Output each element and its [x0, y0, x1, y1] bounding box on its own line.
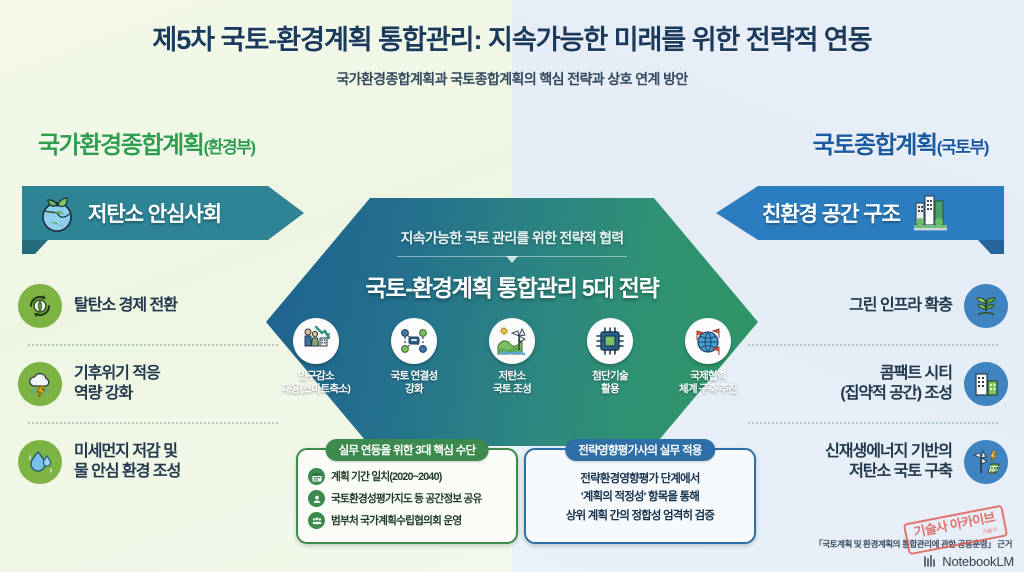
bottom-left-text-1: 계획 기간 일치(2020~2040) — [331, 469, 442, 484]
strategy-label-1-line1: 인구감소 — [298, 370, 334, 382]
globe-cooperation-icon — [685, 318, 731, 364]
earth-plant-icon — [36, 191, 80, 235]
right-list-label-3-line2: 저탄소 국토 구축 — [849, 463, 952, 480]
left-column-title: 국가환경종합계획(환경부) — [38, 125, 255, 160]
left-list-label-2-line1: 기후위기 적응 — [74, 365, 160, 382]
buildings-icon — [964, 362, 1008, 406]
chip-technology-icon — [587, 318, 633, 364]
page-subtitle: 국가환경종합계획과 국토종합계획의 핵심 전략과 상호 연계 방안 — [0, 69, 1024, 89]
strategy-item-3: 저탄소 국토 조성 — [470, 318, 554, 396]
population-decline-icon — [293, 318, 339, 364]
right-list-item-1: 그린 인프라 확충 — [738, 268, 1008, 344]
left-list-label-2: 기후위기 적응 역량 강화 — [74, 364, 160, 404]
notebooklm-label: NotebookLM — [942, 554, 1014, 569]
strategy-label-4-line2: 활용 — [601, 383, 619, 395]
bottom-left-text-3: 범부처 국가계획수립협의회 운영 — [331, 513, 461, 528]
strategy-label-2: 국토 연결성 강화 — [372, 370, 456, 396]
strategy-label-3: 저탄소 국토 조성 — [470, 370, 554, 396]
notebooklm-watermark: NotebookLM — [923, 554, 1014, 569]
right-list-item-2: 콤팩트 시티 (집약적 공간) 조성 — [738, 346, 1008, 422]
carbon-cycle-icon — [18, 284, 62, 328]
right-banner-label: 친환경 공간 구조 — [762, 198, 900, 228]
right-list-label-3: 신재생에너지 기반의 저탄소 국토 구축 — [825, 442, 952, 482]
strategy-label-2-line2: 강화 — [405, 383, 423, 395]
bottom-right-line-2: '계획의 적정성' 항목을 통해 — [534, 488, 746, 506]
water-drop-icon — [18, 440, 62, 484]
strategy-label-2-line1: 국토 연결성 — [390, 370, 437, 382]
strategy-item-4: 첨단기술 활용 — [568, 318, 652, 396]
right-list-label-2: 콤팩트 시티 (집약적 공간) 조성 — [840, 364, 952, 404]
bottom-left-box: 실무 연등을 위한 3대 핵심 수단 계획 기간 일치(2020~2040) 국… — [296, 448, 518, 544]
leaf-sprout-icon — [964, 284, 1008, 328]
strategy-label-4: 첨단기술 활용 — [568, 370, 652, 396]
left-list-item-2: 기후위기 적응 역량 강화 — [18, 346, 288, 422]
strategy-label-3-line2: 국토 조성 — [493, 383, 531, 395]
right-banner: 친환경 공간 구조 — [716, 186, 1004, 240]
calendar-icon — [308, 468, 325, 485]
left-list-label-3: 미세먼지 저감 및 물 안심 환경 조성 — [74, 442, 180, 482]
bottom-left-line-2: 국토환경성평가지도 등 공간정보 공유 — [308, 490, 508, 507]
strategy-label-5-line2: 체계 구축 추진 — [679, 383, 737, 395]
left-banner-label: 저탄소 안심사회 — [88, 198, 221, 228]
bottom-right-box-heading: 전략영향평가사의 실무 적용 — [565, 439, 715, 461]
bottom-right-box-body: 전략환경영향평가 단계에서 '계획의 적정성' 항목을 통해 상위 계획 간의 … — [526, 450, 754, 525]
bottom-right-line-1: 전략환경영향평가 단계에서 — [534, 470, 746, 488]
left-list-label-2-line2: 역량 강화 — [74, 385, 132, 402]
bottom-left-box-body: 계획 기간 일치(2020~2040) 국토환경성평가지도 등 공간정보 공유 … — [298, 450, 516, 529]
center-divider — [397, 256, 627, 257]
strategy-label-3-line1: 저탄소 — [499, 370, 526, 382]
storm-cloud-icon — [18, 362, 62, 406]
bottom-left-text-2: 국토환경성평가지도 등 공간정보 공유 — [331, 491, 482, 506]
right-item-list: 그린 인프라 확충 콤팩트 시티 (집약적 공간) 조성 — [738, 268, 1008, 500]
bottom-left-box-heading: 실무 연등을 위한 3대 핵심 수단 — [326, 439, 489, 461]
network-connectivity-icon — [391, 318, 437, 364]
right-list-label-1: 그린 인프라 확충 — [849, 296, 952, 316]
infographic-canvas: 제5차 국토-환경계획 통합관리: 지속가능한 미래를 위한 전략적 연동 국가… — [0, 0, 1024, 572]
strategy-label-1-line2: 대응(스마트축소) — [282, 383, 350, 395]
map-pin-icon — [308, 490, 325, 507]
right-list-label-2-line1: 콤팩트 시티 — [880, 365, 952, 382]
left-list-item-1: 탈탄소 경제 전환 — [18, 268, 288, 344]
right-column-title-sub: (국토부) — [937, 138, 988, 157]
left-column-title-sub: (환경부) — [203, 138, 254, 157]
left-item-list: 탈탄소 경제 전환 기후위기 적응 역량 강화 — [18, 268, 288, 500]
bottom-left-line-3: 범부처 국가계획수립협의회 운영 — [308, 512, 508, 529]
left-list-item-3: 미세먼지 저감 및 물 안심 환경 조성 — [18, 424, 288, 500]
bottom-right-box: 전략영향평가사의 실무 적용 전략환경영향평가 단계에서 '계획의 적정성' 항… — [524, 448, 756, 544]
wind-solar-icon — [964, 440, 1008, 484]
low-carbon-land-icon — [489, 318, 535, 364]
left-column-title-main: 국가환경종합계획 — [38, 132, 203, 159]
left-list-label-1: 탈탄소 경제 전환 — [74, 296, 177, 316]
right-list-label-3-line1: 신재생에너지 기반의 — [825, 443, 952, 460]
bottom-right-line-3: 상위 계획 간의 정합성 엄격히 검증 — [534, 507, 746, 525]
left-list-label-3-line1: 미세먼지 저감 및 — [74, 443, 177, 460]
notebooklm-logo-icon — [923, 554, 938, 569]
left-banner: 저탄소 안심사회 — [22, 186, 304, 240]
strategy-label-5-line1: 국제협력 — [690, 370, 726, 382]
green-city-icon — [908, 191, 952, 235]
header: 제5차 국토-환경계획 통합관리: 지속가능한 미래를 위한 전략적 연동 국가… — [0, 18, 1024, 89]
strategy-label-4-line1: 첨단기술 — [592, 370, 628, 382]
right-list-label-2-line2: (집약적 공간) 조성 — [840, 385, 952, 402]
left-list-label-3-line2: 물 안심 환경 조성 — [74, 463, 180, 480]
right-column-title-main: 국토종합계획 — [813, 132, 937, 159]
center-title: 국토-환경계획 통합관리 5대 전략 — [266, 269, 758, 303]
strategy-item-2: 국토 연결성 강화 — [372, 318, 456, 396]
strategy-icon-row: 인구감소 대응(스마트축소) 국토 연결성 — [266, 318, 758, 396]
right-list-item-3: 신재생에너지 기반의 저탄소 국토 구축 — [738, 424, 1008, 500]
right-column-title: 국토종합계획(국토부) — [813, 125, 988, 160]
center-kicker: 지속가능한 국토 관리를 위한 전략적 협력 — [266, 228, 758, 248]
bottom-left-line-1: 계획 기간 일치(2020~2040) — [308, 468, 508, 485]
committee-icon — [308, 512, 325, 529]
page-title: 제5차 국토-환경계획 통합관리: 지속가능한 미래를 위한 전략적 연동 — [0, 18, 1024, 57]
